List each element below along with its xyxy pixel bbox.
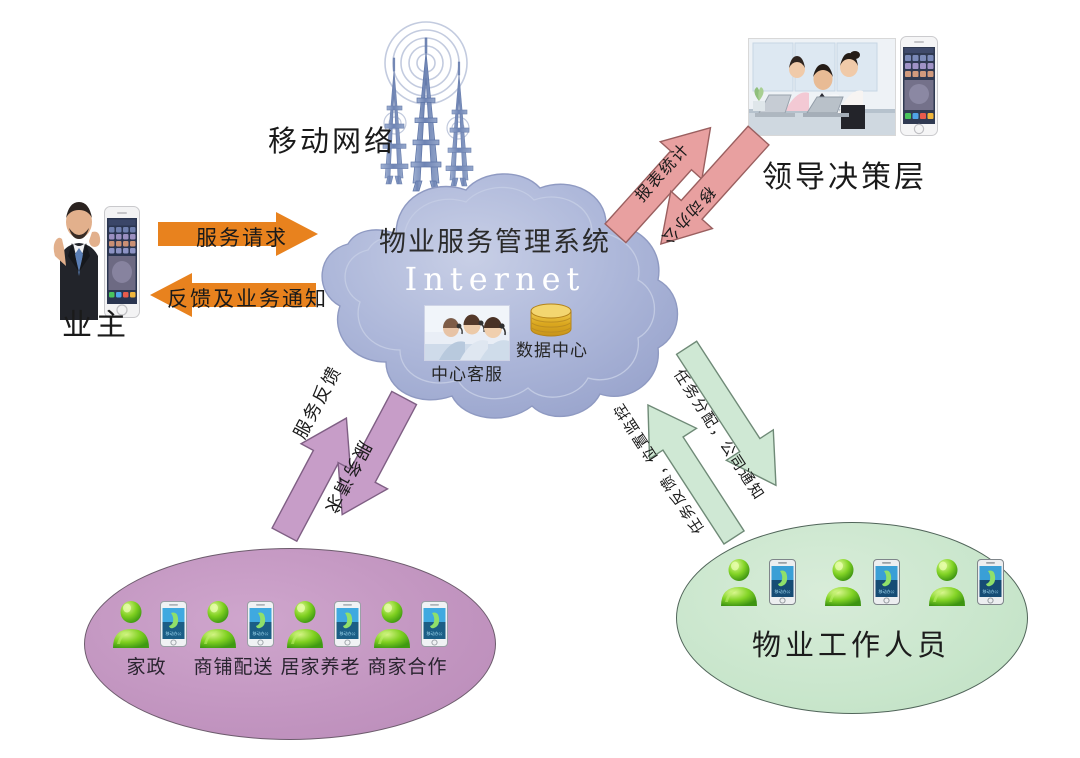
staff-node[interactable]: 移动办公 [714,556,796,610]
svg-text:移动办公: 移动办公 [253,630,269,636]
service-node-label: 家政 [126,652,166,679]
service-node-label: 商家合作 [367,652,447,679]
person-avatar-icon [367,598,419,650]
person-avatar-icon [714,556,766,608]
database-icon [528,303,574,337]
mobile-phone-icon: 移动办公 [160,601,187,647]
label-mobile-network: 移动网络 [268,118,396,160]
svg-text:移动办公: 移动办公 [775,588,791,594]
person-avatar-icon [280,598,332,650]
person-avatar-icon [922,556,974,608]
cell-tower-group [352,18,522,193]
label-property-staff: 物业工作人员 [676,622,1026,664]
mobile-phone-icon: 移动办公 [873,559,900,605]
mobile-phone-icon: 移动办公 [769,559,796,605]
service-node-label: 商铺配送 [193,652,273,679]
svg-text:移动办公: 移动办公 [340,630,356,636]
svg-text:移动办公: 移动办公 [983,588,999,594]
service-node-merchant-cooperation[interactable]: 移动办公 商家合作 [367,598,448,679]
person-avatar-icon [818,556,870,608]
service-node-label: 居家养老 [280,652,360,679]
service-node-shop-delivery[interactable]: 移动办公 商铺配送 [193,598,274,679]
label-leadership: 领导决策层 [762,152,927,196]
svg-text:移动办公: 移动办公 [166,630,182,636]
service-node-housekeeping[interactable]: 移动办公 家政 [106,598,187,679]
label-data-center: 数据中心 [506,336,598,361]
mobile-phone-icon: 移动办公 [334,601,361,647]
label-owner: 业主 [46,300,146,344]
service-node-row: 移动办公 家政 移动办公 [106,598,448,679]
staff-node[interactable]: 移动办公 [818,556,900,610]
arrow-label-feedback-notice: 反馈及业务通知 [167,283,328,313]
mobile-phone-icon: 移动办公 [247,601,274,647]
svg-text:移动办公: 移动办公 [879,588,895,594]
svg-text:移动办公: 移动办公 [427,630,443,636]
arrow-task-feedback [595,362,775,562]
person-avatar-icon [106,598,158,650]
service-node-home-elderly-care[interactable]: 移动办公 居家养老 [280,598,361,679]
mobile-phone-icon: 移动办公 [977,559,1004,605]
property-staff-group [676,522,1028,714]
mobile-phone-icon: 移动办公 [421,601,448,647]
staff-node-row: 移动办公 移动办公 [714,556,1004,610]
call-center-photo [424,305,510,361]
leader-smartphone-icon [900,36,938,136]
staff-node[interactable]: 移动办公 [922,556,1004,610]
diagram-canvas: 移动网络 物业服务管理系统 Internet [0,0,1080,758]
person-avatar-icon [193,598,245,650]
arrow-label-service-request: 服务请求 [196,222,288,252]
